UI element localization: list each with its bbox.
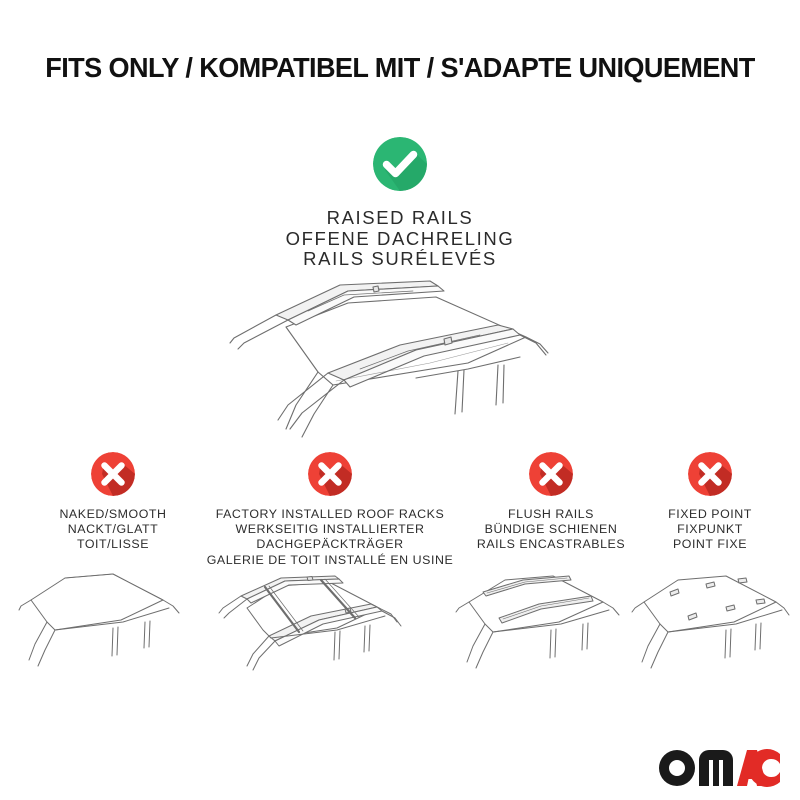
check-circle-icon (373, 137, 427, 191)
page-title: FITS ONLY / KOMPATIBEL MIT / S'ADAPTE UN… (6, 52, 794, 84)
incompatible-labels: FIXED POINT FIXPUNKT POINT FIXE (630, 507, 790, 553)
compatible-label-line: RAILS SURÉLEVÉS (0, 249, 800, 270)
incompatible-label-line: POINT FIXE (630, 537, 790, 552)
incompatible-item-flush-rails: FLUSH RAILS BÜNDIGE SCHIENEN RAILS ENCAS… (451, 452, 651, 553)
incompatible-item-naked-smooth: NAKED/SMOOTH NACKT/GLATT TOIT/LISSE (13, 452, 213, 553)
x-circle-icon (688, 452, 732, 496)
omac-logo (657, 748, 782, 788)
compatible-label-line: OFFENE DACHRELING (0, 229, 800, 250)
incompatible-label-line: FIXPUNKT (630, 522, 790, 537)
incompatible-label-line: RAILS ENCASTRABLES (451, 537, 651, 552)
incompatible-labels: NAKED/SMOOTH NACKT/GLATT TOIT/LISSE (13, 507, 213, 553)
compatible-labels: RAISED RAILS OFFENE DACHRELING RAILS SUR… (0, 208, 800, 270)
x-circle-icon (308, 452, 352, 496)
badge-wrap (451, 452, 651, 502)
incompatible-item-fixed-point: FIXED POINT FIXPUNKT POINT FIXE (630, 452, 790, 553)
car-roof-raised-rails-illustration (168, 277, 638, 452)
incompatible-label-line: TOIT/LISSE (13, 537, 213, 552)
incompatible-label-line: FACTORY INSTALLED ROOF RACKS (205, 507, 455, 522)
incompatible-label-line: FLUSH RAILS (451, 507, 651, 522)
car-roof-factory-roof-rack-illustration (205, 556, 455, 676)
badge-wrap (630, 452, 790, 502)
logo-letter-m (699, 750, 733, 786)
car-roof-fixed-point-illustration (630, 556, 790, 676)
compatible-section: RAISED RAILS OFFENE DACHRELING RAILS SUR… (0, 137, 800, 270)
incompatible-label-line: NAKED/SMOOTH (13, 507, 213, 522)
x-circle-icon (91, 452, 135, 496)
incompatible-label-line: WERKSEITIG INSTALLIERTER (205, 522, 455, 537)
x-circle-icon (529, 452, 573, 496)
incompatible-item-factory-roof-rack: FACTORY INSTALLED ROOF RACKS WERKSEITIG … (205, 452, 455, 568)
incompatible-labels: FLUSH RAILS BÜNDIGE SCHIENEN RAILS ENCAS… (451, 507, 651, 553)
car-roof-flush-rails-illustration (451, 556, 651, 676)
badge-wrap (13, 452, 213, 502)
incompatible-label-line: NACKT/GLATT (13, 522, 213, 537)
incompatible-label-line: BÜNDIGE SCHIENEN (451, 522, 651, 537)
incompatible-label-line: DACHGEPÄCKTRÄGER (205, 537, 455, 552)
logo-letter-o (659, 750, 695, 786)
car-roof-naked-smooth-illustration (13, 556, 213, 676)
badge-wrap (205, 452, 455, 502)
incompatible-label-line: FIXED POINT (630, 507, 790, 522)
header: FITS ONLY / KOMPATIBEL MIT / S'ADAPTE UN… (0, 52, 800, 84)
compatible-label-line: RAISED RAILS (0, 208, 800, 229)
